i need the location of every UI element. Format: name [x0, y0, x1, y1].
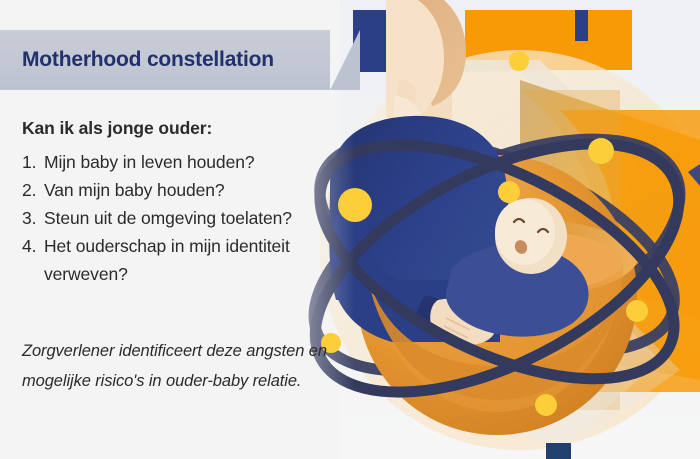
list-item-number: 4.: [22, 232, 36, 260]
list-item-label: Mijn baby in leven houden?: [44, 148, 352, 176]
list-item: 3. Steun uit de omgeving toelaten?: [22, 204, 352, 232]
navy-square-bottom: [546, 443, 571, 459]
question-list: 1. Mijn baby in leven houden? 2. Van mij…: [22, 148, 352, 288]
infographic-card: Motherhood constellation Kan ik als jong…: [0, 0, 700, 459]
dot-bottom-center: [535, 394, 557, 416]
intro-question: Kan ik als jonge ouder:: [22, 118, 212, 139]
list-item-label: Steun uit de omgeving toelaten?: [44, 204, 352, 232]
list-item-label: Het ouderschap in mijn identiteit: [44, 232, 352, 260]
page-title: Motherhood constellation: [22, 30, 352, 90]
list-item-number: 2.: [22, 176, 36, 204]
list-item: verweven?: [22, 260, 352, 288]
dot-chest-center: [498, 181, 520, 203]
text-panel: Motherhood constellation Kan ik als jong…: [0, 0, 360, 459]
list-item: 4. Het ouderschap in mijn identiteit: [22, 232, 352, 260]
list-item-label: verweven?: [44, 260, 352, 288]
dot-upper-right: [588, 138, 614, 164]
list-item: 2. Van mijn baby houden?: [22, 176, 352, 204]
closing-note: Zorgverlener identificeert deze angsten …: [22, 336, 332, 396]
baby-face: [495, 199, 555, 265]
dot-top-orange: [509, 51, 529, 71]
dot-lower-right: [626, 300, 648, 322]
list-item-number: 3.: [22, 204, 36, 232]
list-item-label: Van mijn baby houden?: [44, 176, 352, 204]
list-item: 1. Mijn baby in leven houden?: [22, 148, 352, 176]
navy-bar-top: [575, 10, 588, 41]
list-item-number: 1.: [22, 148, 36, 176]
